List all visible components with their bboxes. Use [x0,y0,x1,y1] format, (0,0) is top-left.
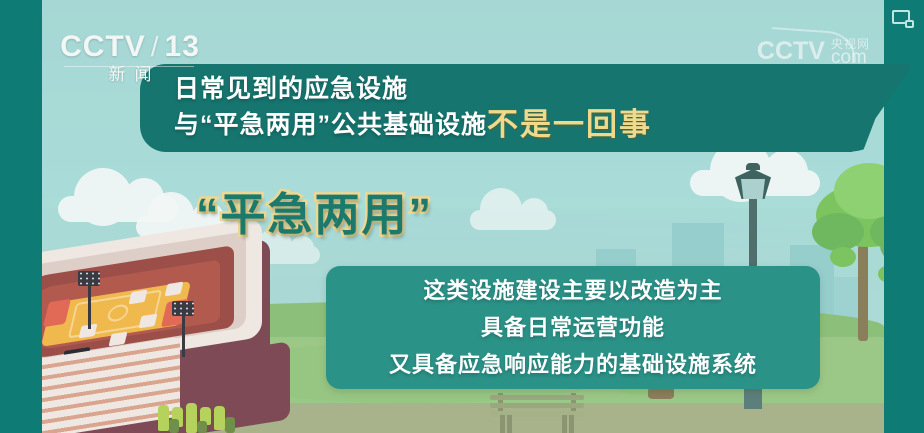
channel-name-cn: 新闻 [50,64,210,86]
picture-in-picture-icon[interactable] [892,10,914,28]
cctv-wordmark: CCTV [60,30,146,64]
park-bench [490,393,584,433]
title-line-2-prefix: 与“平急两用”公共基础设施 [174,111,487,139]
logo-slash: / [151,30,160,64]
title-line-2: 与“平急两用”公共基础设施不是一回事 [174,107,852,143]
logo-divider [64,66,194,67]
channel-number: 13 [165,30,200,64]
cloud-icon [470,210,556,230]
left-edge-band [0,0,42,433]
description-line-2: 具备日常运营功能 [326,309,820,346]
description-line-3: 又具备应急响应能力的基础设施系统 [326,346,820,383]
cctv-com-watermark: CCTV 央视网 com [757,38,870,64]
key-term-headline: “平急两用” [196,178,433,243]
description-line-1: 这类设施建设主要以改造为主 [326,272,820,309]
cctv13-logo-row: CCTV / 13 [50,30,210,64]
title-line-2-accent: 不是一回事 [487,107,652,142]
news-graphic-stage: CCTV / 13 新闻 日常见到的应急设施 与“平急两用”公共基础设施不是一回… [0,0,924,433]
description-panel: 这类设施建设主要以改造为主 具备日常运营功能 又具备应急响应能力的基础设施系统 [326,266,820,389]
title-banner-content: 日常见到的应急设施 与“平急两用”公共基础设施不是一回事 [174,72,852,152]
floodlight-icon [78,271,100,286]
stadium-illustration [0,233,280,433]
title-banner: 日常见到的应急设施 与“平急两用”公共基础设施不是一回事 [140,64,852,152]
cctv13-logo: CCTV / 13 新闻 [50,30,210,96]
floodlight-icon [172,301,194,316]
title-line-1: 日常见到的应急设施 [174,72,852,107]
